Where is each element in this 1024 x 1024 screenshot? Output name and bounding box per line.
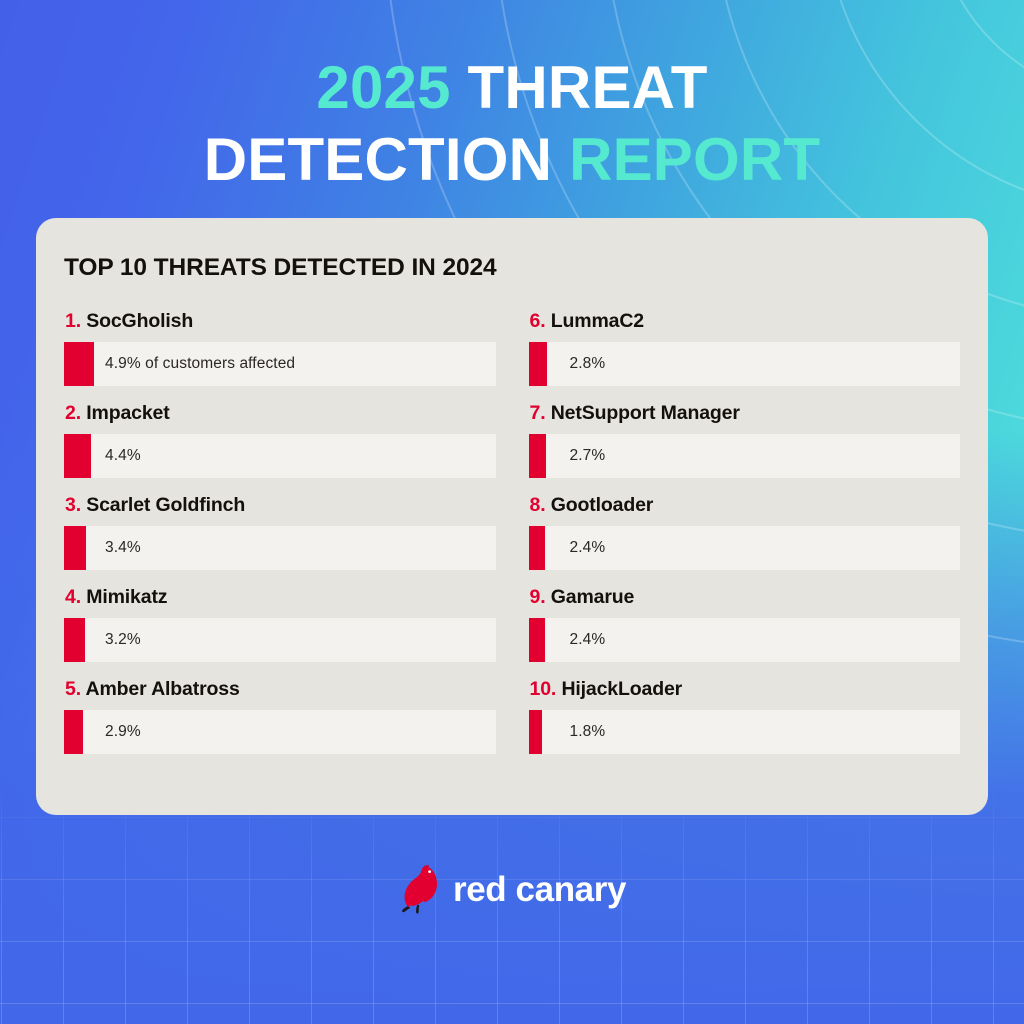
infographic-poster: 2025 THREAT DETECTION REPORT TOP 10 THRE… bbox=[0, 0, 1024, 1024]
threat-value-label: 3.4% bbox=[64, 539, 141, 557]
threat-value-label: 2.8% bbox=[529, 355, 606, 373]
threat-value-label: 3.2% bbox=[64, 631, 141, 649]
title-year: 2025 bbox=[316, 54, 450, 121]
threat-heading: 5. Amber Albatross bbox=[65, 678, 496, 701]
threat-value-label: 2.4% bbox=[529, 631, 606, 649]
threat-bar-track: 2.9% bbox=[64, 710, 496, 754]
threat-bar-track: 2.7% bbox=[529, 434, 961, 478]
threat-rank: 7. bbox=[530, 402, 546, 424]
threat-name: SocGholish bbox=[81, 310, 193, 332]
threat-heading: 4. Mimikatz bbox=[65, 586, 496, 609]
threat-name: Scarlet Goldfinch bbox=[81, 494, 245, 516]
threat-heading: 8. Gootloader bbox=[530, 494, 961, 517]
threat-name: Gootloader bbox=[545, 494, 653, 516]
threat-name: HijackLoader bbox=[556, 678, 682, 700]
threat-value-label: 4.9% of customers affected bbox=[64, 355, 295, 373]
threat-name: Impacket bbox=[81, 402, 170, 424]
poster-title: 2025 THREAT DETECTION REPORT bbox=[0, 58, 1024, 190]
threat-heading: 3. Scarlet Goldfinch bbox=[65, 494, 496, 517]
title-line-2: DETECTION REPORT bbox=[0, 130, 1024, 190]
threat-item: 6. LummaC22.8% bbox=[529, 310, 961, 386]
threat-bar-track: 3.4% bbox=[64, 526, 496, 570]
threat-heading: 6. LummaC2 bbox=[530, 310, 961, 333]
threat-item: 7. NetSupport Manager2.7% bbox=[529, 402, 961, 478]
threat-rank: 10. bbox=[530, 678, 557, 700]
red-canary-logo: red canary bbox=[0, 862, 1024, 918]
title-line-1: 2025 THREAT bbox=[0, 58, 1024, 118]
title-word-report: REPORT bbox=[569, 126, 820, 193]
threat-bar-track: 2.8% bbox=[529, 342, 961, 386]
threat-value-label: 2.9% bbox=[64, 723, 141, 741]
threat-bar-track: 2.4% bbox=[529, 526, 961, 570]
threat-heading: 10. HijackLoader bbox=[530, 678, 961, 701]
title-word-detection: DETECTION bbox=[204, 126, 552, 193]
threat-heading: 1. SocGholish bbox=[65, 310, 496, 333]
threat-item: 9. Gamarue2.4% bbox=[529, 586, 961, 662]
threat-rank: 6. bbox=[530, 310, 546, 332]
threat-bar-track: 2.4% bbox=[529, 618, 961, 662]
threat-list: 1. SocGholish4.9% of customers affected6… bbox=[64, 310, 960, 770]
threat-item: 4. Mimikatz3.2% bbox=[64, 586, 496, 662]
threat-item: 3. Scarlet Goldfinch3.4% bbox=[64, 494, 496, 570]
threat-value-label: 2.7% bbox=[529, 447, 606, 465]
threat-bar-track: 1.8% bbox=[529, 710, 961, 754]
threat-rank: 2. bbox=[65, 402, 81, 424]
threat-item: 8. Gootloader2.4% bbox=[529, 494, 961, 570]
card-heading: TOP 10 THREATS DETECTED IN 2024 bbox=[64, 254, 960, 282]
threat-value-label: 1.8% bbox=[529, 723, 606, 741]
threat-name: Mimikatz bbox=[81, 586, 167, 608]
threat-name: Amber Albatross bbox=[81, 678, 240, 700]
threat-item: 10. HijackLoader1.8% bbox=[529, 678, 961, 754]
threat-rank: 3. bbox=[65, 494, 81, 516]
threat-name: NetSupport Manager bbox=[545, 402, 739, 424]
threat-bar-track: 3.2% bbox=[64, 618, 496, 662]
threat-item: 5. Amber Albatross2.9% bbox=[64, 678, 496, 754]
threat-rank: 1. bbox=[65, 310, 81, 332]
threat-rank: 4. bbox=[65, 586, 81, 608]
threat-name: Gamarue bbox=[545, 586, 634, 608]
title-word-threat: THREAT bbox=[468, 54, 708, 121]
threat-rank: 5. bbox=[65, 678, 81, 700]
threat-bar-track: 4.4% bbox=[64, 434, 496, 478]
logo-wordmark: red canary bbox=[453, 870, 626, 910]
threat-name: LummaC2 bbox=[545, 310, 644, 332]
threat-heading: 2. Impacket bbox=[65, 402, 496, 425]
threat-item: 1. SocGholish4.9% of customers affected bbox=[64, 310, 496, 386]
red-canary-bird-icon bbox=[398, 862, 444, 918]
threat-heading: 7. NetSupport Manager bbox=[530, 402, 961, 425]
threat-value-label: 2.4% bbox=[529, 539, 606, 557]
threat-rank: 8. bbox=[530, 494, 546, 516]
threat-value-label: 4.4% bbox=[64, 447, 141, 465]
threat-item: 2. Impacket4.4% bbox=[64, 402, 496, 478]
threat-rank: 9. bbox=[530, 586, 546, 608]
threats-card: TOP 10 THREATS DETECTED IN 2024 1. SocGh… bbox=[36, 218, 988, 815]
threat-bar-track: 4.9% of customers affected bbox=[64, 342, 496, 386]
threat-heading: 9. Gamarue bbox=[530, 586, 961, 609]
